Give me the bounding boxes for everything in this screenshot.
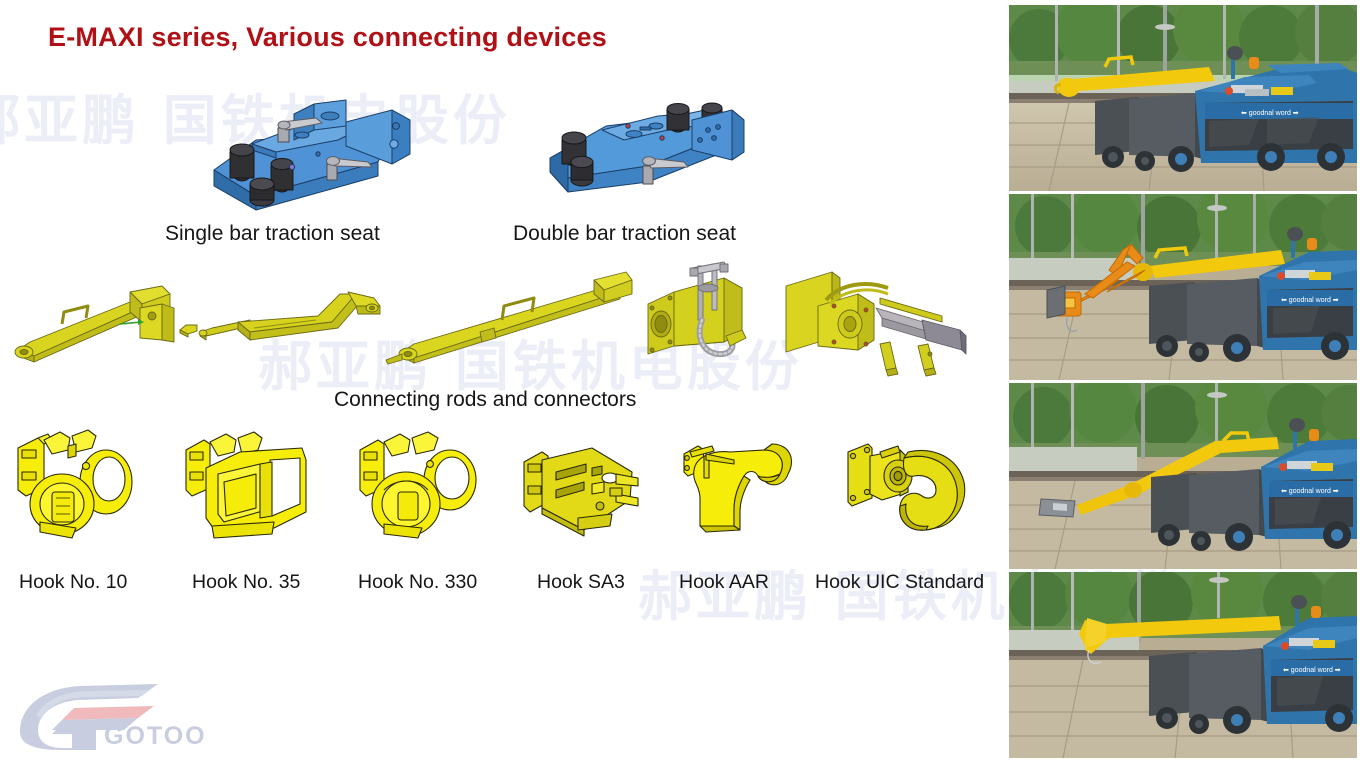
caption-hook-no-10: Hook No. 10 (19, 571, 127, 594)
figure-connecting-rod-3 (384, 268, 632, 364)
svg-text:⬅ goodnal word ➡: ⬅ goodnal word ➡ (1281, 297, 1339, 304)
figure-hook-no-35 (182, 430, 314, 546)
logo-wordmark: GOTOO (104, 722, 207, 750)
caption-connecting-rods: Connecting rods and connectors (334, 388, 636, 412)
svg-text:⬅ goodnal word ➡: ⬅ goodnal word ➡ (1283, 667, 1341, 674)
figure-connector-body (646, 262, 772, 372)
photo-angled-arm: ⬅ goodnal word ➡ (1009, 383, 1357, 569)
slide-canvas: 郝亚鹏 国铁机电股份 郝亚鹏 国铁机电股份 郝亚鹏 国铁机电股份 E-MAXI … (0, 0, 1366, 765)
svg-text:⬅ goodnal word ➡: ⬅ goodnal word ➡ (1241, 110, 1299, 117)
figure-connecting-rod-2 (198, 288, 382, 362)
caption-hook-no-35: Hook No. 35 (192, 571, 300, 594)
caption-hook-sa3: Hook SA3 (537, 571, 625, 594)
figure-connector-spacer (178, 320, 200, 338)
caption-hook-aar: Hook AAR (679, 571, 769, 594)
caption-hook-no-330: Hook No. 330 (358, 571, 477, 594)
figure-connector-assembly (784, 266, 966, 376)
figure-hook-no-10 (14, 426, 144, 548)
figure-hook-aar (676, 436, 798, 544)
logo-gotoo: GOTOO (18, 676, 228, 754)
figure-hook-no-330 (358, 428, 486, 550)
figure-hook-sa3 (522, 444, 640, 540)
caption-hook-uic: Hook UIC Standard (815, 571, 984, 594)
figure-hook-uic-standard (842, 436, 968, 544)
slide-title: E-MAXI series, Various connecting device… (48, 22, 607, 53)
photo-column: ⬅ goodnal word ➡ (1009, 5, 1357, 761)
figure-double-bar-traction-seat (528, 96, 748, 214)
svg-text:⬅ goodnal word ➡: ⬅ goodnal word ➡ (1281, 488, 1339, 495)
photo-flared-head: ⬅ goodnal word ➡ (1009, 572, 1357, 758)
caption-single-bar-traction-seat: Single bar traction seat (165, 222, 380, 246)
figure-single-bar-traction-seat (196, 92, 411, 217)
photo-straight-hook: ⬅ goodnal word ➡ (1009, 5, 1357, 191)
figure-connecting-rod-1 (12, 278, 188, 364)
photo-orange-articulated: ⬅ goodnal word ➡ (1009, 194, 1357, 380)
caption-double-bar-traction-seat: Double bar traction seat (513, 222, 736, 246)
